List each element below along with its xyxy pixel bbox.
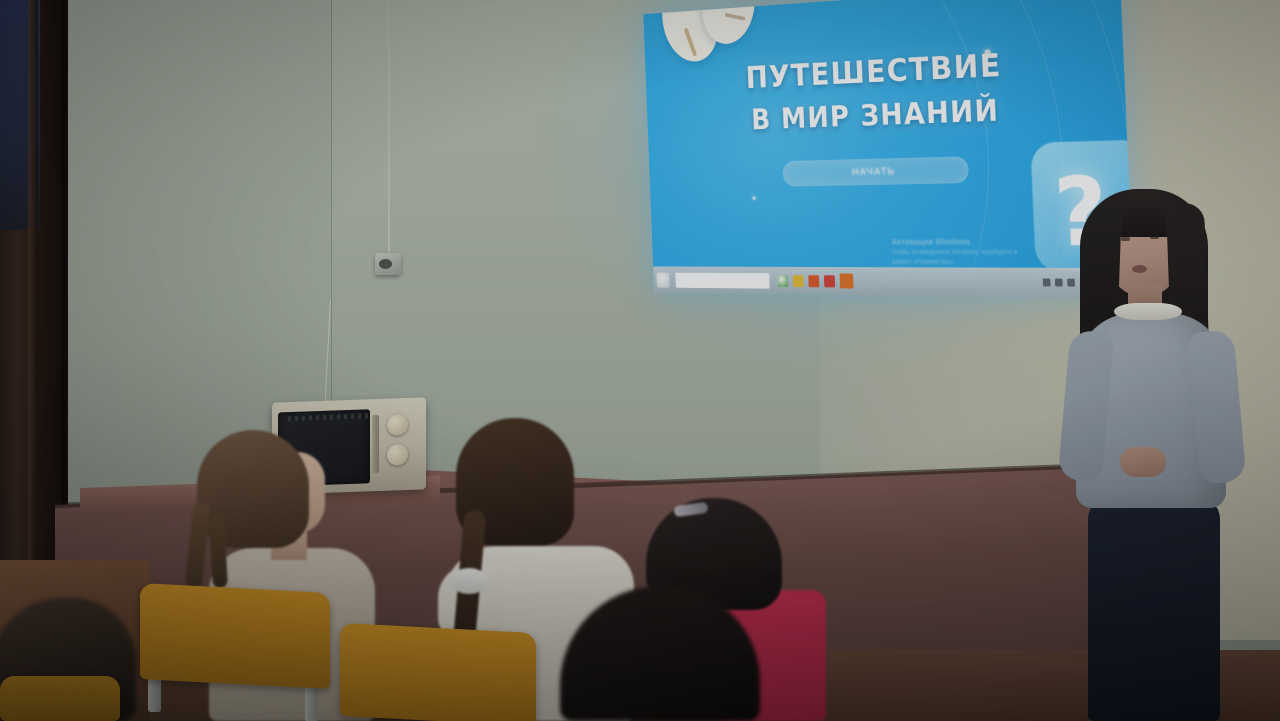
yellow-app-icon[interactable]	[793, 275, 804, 287]
slide-cta-pill[interactable]: НАЧАТЬ	[782, 156, 969, 186]
wall-socket	[375, 253, 401, 275]
red-app-icon[interactable]	[824, 275, 835, 287]
chair-backrest	[140, 583, 330, 689]
child-middle-hair-bow	[450, 568, 488, 594]
chair-middle	[340, 628, 536, 721]
chrome-icon[interactable]	[777, 275, 788, 287]
taskbar-app-icons[interactable]	[777, 273, 853, 288]
child-front-dark	[560, 586, 790, 721]
door-frame-molding	[28, 0, 38, 620]
child-front-hair	[560, 586, 760, 721]
chair-left	[140, 588, 330, 721]
chair-corner	[0, 676, 120, 721]
slide-cta-label: НАЧАТЬ	[852, 166, 896, 178]
presenter-hands	[1120, 447, 1166, 477]
activate-windows-watermark: Активация Windows Чтобы активировать Win…	[891, 235, 1026, 267]
classroom-scene: ПУТЕШЕСТВИЕ В МИР ЗНАНИЙ НАЧАТЬ ? Актива…	[0, 0, 1280, 721]
powerpoint-icon[interactable]	[840, 274, 854, 289]
presenter-woman	[1052, 185, 1267, 721]
microwave-knob-icon[interactable]	[387, 414, 408, 436]
decor-dot-icon	[752, 196, 755, 200]
chair-backrest	[0, 676, 120, 721]
socket-hole-icon	[379, 259, 392, 269]
hanging-cable	[388, 0, 390, 258]
watermark-subtitle: Чтобы активировать Windows, перейдите в …	[892, 248, 1027, 268]
orange-app-icon[interactable]	[808, 275, 819, 287]
microwave-vents-icon	[288, 413, 372, 421]
child-left-braid	[185, 501, 211, 588]
presenter-collar	[1114, 303, 1182, 320]
watermark-title: Активация Windows	[891, 235, 1025, 248]
presenter-trousers	[1088, 497, 1220, 721]
search-input[interactable]	[675, 272, 769, 288]
network-icon[interactable]	[1043, 278, 1051, 286]
start-button[interactable]	[656, 272, 669, 287]
presenter-mouth	[1132, 265, 1147, 273]
microwave-knob-icon[interactable]	[387, 444, 408, 466]
presenter-eye	[1121, 237, 1130, 241]
chair-backrest	[340, 623, 536, 721]
